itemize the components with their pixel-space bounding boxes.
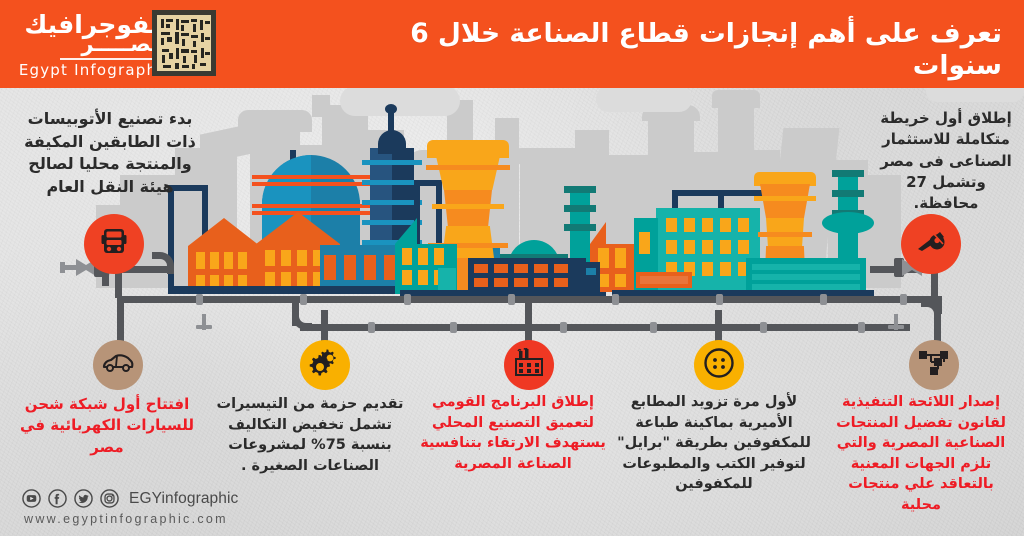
badge-map[interactable] <box>901 214 961 274</box>
badge-car[interactable] <box>93 340 143 390</box>
instagram-icon[interactable] <box>100 489 119 508</box>
header-bar: انفوجرافيك مصـــــر Egypt Infographic <box>0 0 1024 88</box>
bus-icon <box>97 225 131 263</box>
gears-icon <box>308 347 342 383</box>
twitter-icon[interactable] <box>74 489 93 508</box>
facebook-icon[interactable] <box>48 489 67 508</box>
page-title: تعرف على أهم إنجازات قطاع الصناعة خلال 6… <box>362 18 1002 82</box>
brand-handle: EGYinfographic <box>129 490 238 508</box>
website-url: www.egyptinfographic.com <box>24 512 238 526</box>
car-icon <box>102 352 134 378</box>
badge-factory[interactable] <box>504 340 554 390</box>
footer: EGYinfographic www.egyptinfographic.com <box>22 489 238 526</box>
social-links: EGYinfographic <box>22 489 238 508</box>
callout-top-left-text: بدء تصنيع الأتوبيسات ذات الطابقين المكيف… <box>10 108 210 199</box>
hieroglyph-badge-icon <box>152 10 216 76</box>
map-pin-icon <box>913 224 949 264</box>
badge-braille[interactable] <box>694 340 744 390</box>
factory-icon <box>513 348 545 382</box>
logo-english: Egypt Infographic <box>19 61 172 79</box>
badge-gears[interactable] <box>300 340 350 390</box>
braille-icon <box>701 345 737 385</box>
badge-bus[interactable] <box>84 214 144 274</box>
callout-bottom-5-text: إصدار اللائحة التنفيذية لقانون تفضيل الم… <box>828 392 1014 515</box>
callout-bottom-4-text: لأول مرة تزويد المطابع الأميرية بماكينة … <box>612 392 816 495</box>
network-icon <box>918 348 950 382</box>
callout-top-right-text: إطلاق أول خريطة متكاملة للاستثمار الصناع… <box>872 108 1020 214</box>
valve-small-right <box>888 314 904 334</box>
infographic-page: انفوجرافيك مصـــــر Egypt Infographic <box>0 0 1024 536</box>
badge-network[interactable] <box>909 340 959 390</box>
valve-small-left <box>196 314 212 334</box>
youtube-icon[interactable] <box>22 489 41 508</box>
callout-bottom-3-text: إطلاق البرنامج القومي لتعميق التصنيع الم… <box>412 392 614 474</box>
callout-bottom-2-text: تقديم حزمة من التيسيرات تشمل تخفيض التكا… <box>208 394 412 476</box>
callout-bottom-1-text: افتتاح أول شبكة شحن للسيارات الكهربائية … <box>12 394 202 458</box>
